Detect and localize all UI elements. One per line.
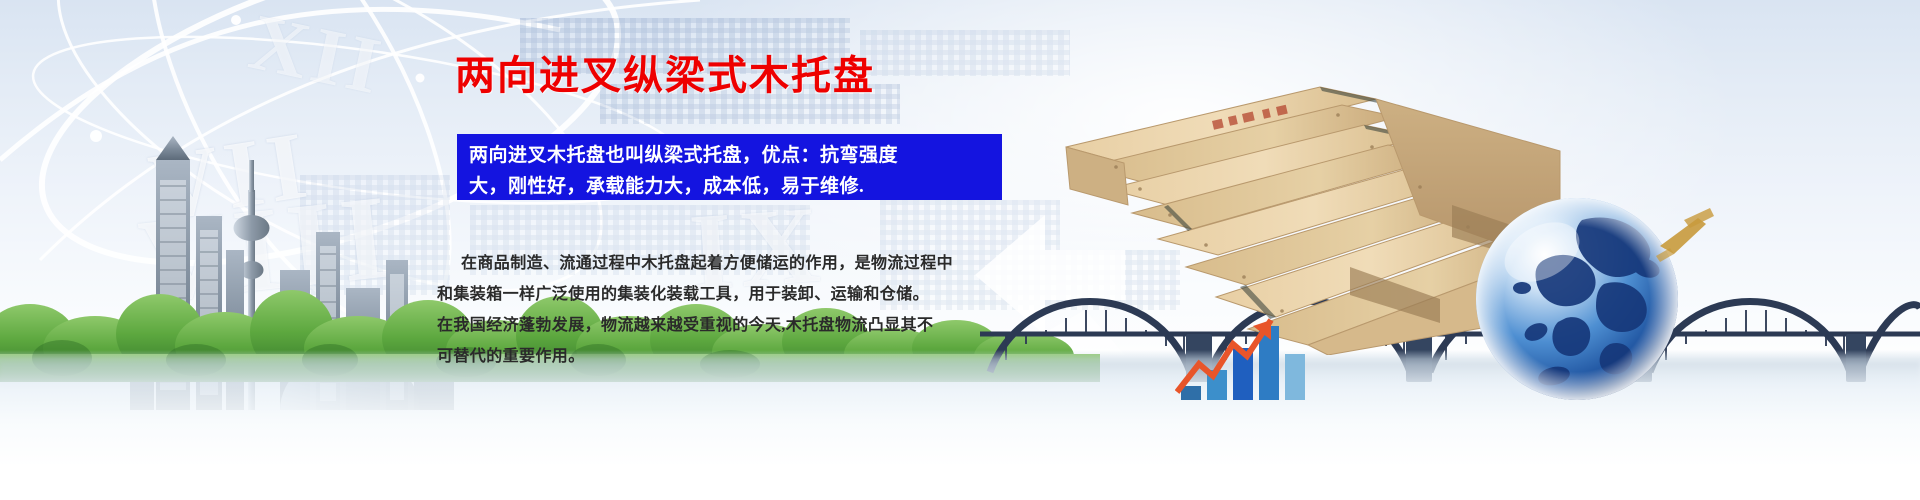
- highlight-line-2: 大，刚性好，承载能力大，成本低，易于维修.: [469, 171, 992, 202]
- paragraph-line-3: 在我国经济蓬勃发展，物流越来越受重视的今天,木托盘物流凸显其不: [437, 310, 1037, 341]
- decor-numeral: VIII: [133, 167, 402, 331]
- city-skyline-icon: [130, 120, 490, 410]
- highlight-box: 两向进叉木托盘也叫纵梁式托盘，优点：抗弯强度 大，刚性好，承载能力大，成本低，易…: [457, 134, 1002, 200]
- paragraph-line-4: 可替代的重要作用。: [437, 341, 1037, 372]
- page-title: 两向进叉纵梁式木托盘: [455, 52, 875, 100]
- description-paragraph: 在商品制造、流通过程中木托盘起着方便储运的作用，是物流过程中 和集装箱一样广泛使…: [437, 248, 1037, 372]
- airplane-icon: [1640, 200, 1730, 270]
- paragraph-line-1: 在商品制造、流通过程中木托盘起着方便储运的作用，是物流过程中: [437, 248, 1037, 279]
- decor-numeral: VII: [142, 108, 319, 243]
- decor-numeral: XII: [242, 0, 392, 114]
- growth-chart: [1175, 300, 1355, 400]
- highlight-line-1: 两向进叉木托盘也叫纵梁式托盘，优点：抗弯强度: [469, 140, 992, 171]
- dot-grid-block: [300, 175, 450, 295]
- paragraph-line-2: 和集装箱一样广泛使用的集装化装载工具，用于装卸、运输和仓储。: [437, 279, 1037, 310]
- product-banner: VII VIII XII IX: [0, 0, 1920, 500]
